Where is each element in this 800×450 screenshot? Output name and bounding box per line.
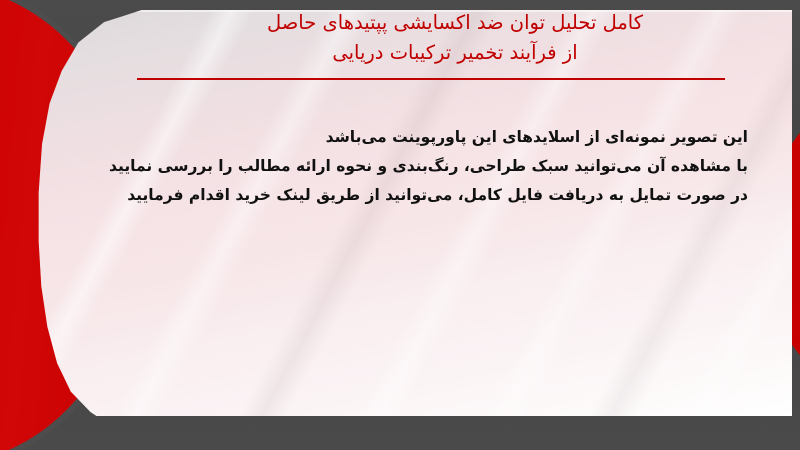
slide-body-text: این تصویر نمونه‌ای از اسلایدهای این پاور… <box>160 123 748 210</box>
slide-title-line-2: از فرآیند تخمیر ترکیبات دریایی <box>150 38 760 68</box>
title-underline-rule <box>137 78 725 80</box>
slide-content: کامل تحلیل توان ضد اکسایشی پپتیدهای حاصل… <box>0 0 800 450</box>
slide-body-line-1: این تصویر نمونه‌ای از اسلایدهای این پاور… <box>160 123 748 152</box>
presentation-slide: کامل تحلیل توان ضد اکسایشی پپتیدهای حاصل… <box>0 0 800 450</box>
slide-body-line-3: در صورت تمایل به دریافت فایل کامل، می‌تو… <box>160 181 748 210</box>
slide-body-line-2: با مشاهده آن می‌توانید سبک طراحی، رنگ‌بن… <box>160 152 748 181</box>
slide-title-line-1: کامل تحلیل توان ضد اکسایشی پپتیدهای حاصل <box>150 8 760 38</box>
slide-title: کامل تحلیل توان ضد اکسایشی پپتیدهای حاصل… <box>150 8 760 68</box>
